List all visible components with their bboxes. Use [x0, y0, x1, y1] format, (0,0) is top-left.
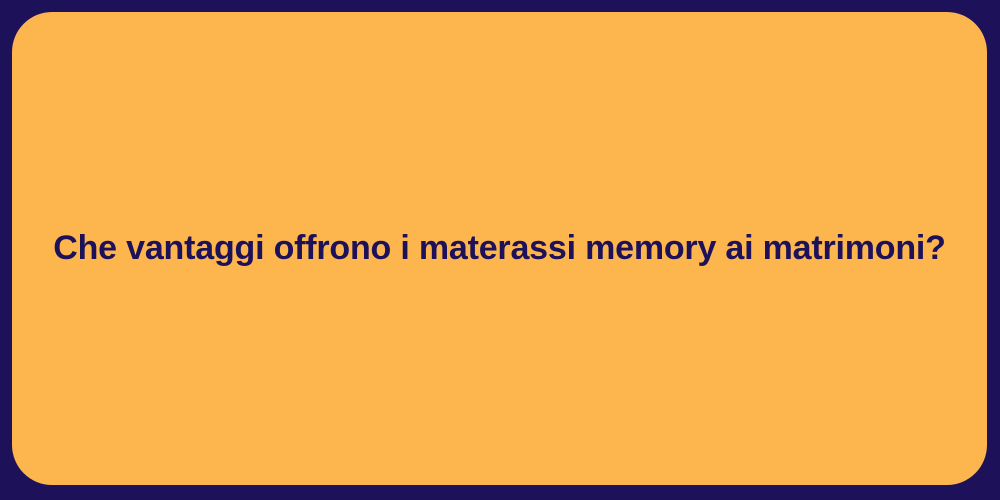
page-background: Che vantaggi offrono i materassi memory …	[0, 0, 1000, 500]
content-card: Che vantaggi offrono i materassi memory …	[12, 12, 987, 485]
page-title: Che vantaggi offrono i materassi memory …	[12, 227, 987, 270]
